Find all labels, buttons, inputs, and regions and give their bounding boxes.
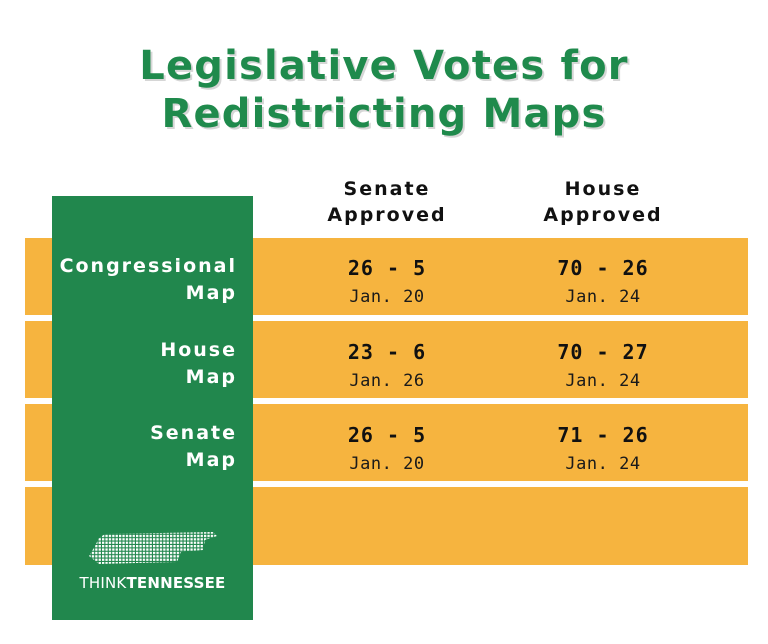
column-header-senate-line-2: Approved bbox=[282, 202, 492, 228]
table-row-label-2-line-1: House bbox=[52, 337, 237, 364]
vote-count-house-2: 70 - 27 bbox=[498, 337, 708, 367]
logo-wordmark: THINKTENNESSEE bbox=[52, 574, 253, 592]
table-row-label-1-line-2: Map bbox=[52, 280, 237, 307]
table-row-label-3-line-2: Map bbox=[52, 447, 237, 474]
title-line-2: Redistricting Maps bbox=[0, 90, 768, 138]
vote-count-house-1: 70 - 26 bbox=[498, 253, 708, 283]
infographic-root: Legislative Votes for Redistricting Maps… bbox=[0, 0, 768, 644]
table-cell-senate-2: 23 - 6 Jan. 26 bbox=[282, 337, 492, 395]
vote-date-house-2: Jan. 24 bbox=[498, 367, 708, 395]
table-row-label-3-line-1: Senate bbox=[52, 420, 237, 447]
vote-count-house-3: 71 - 26 bbox=[498, 420, 708, 450]
logo-word-think: THINK bbox=[80, 574, 127, 592]
page-title: Legislative Votes for Redistricting Maps bbox=[0, 42, 768, 138]
vote-date-senate-1: Jan. 20 bbox=[282, 283, 492, 311]
column-header-house: House Approved bbox=[498, 176, 708, 228]
column-header-senate-line-1: Senate bbox=[282, 176, 492, 202]
vote-count-senate-3: 26 - 5 bbox=[282, 420, 492, 450]
column-header-house-line-2: Approved bbox=[498, 202, 708, 228]
vote-date-house-3: Jan. 24 bbox=[498, 450, 708, 478]
vote-date-senate-2: Jan. 26 bbox=[282, 367, 492, 395]
table-cell-senate-1: 26 - 5 Jan. 20 bbox=[282, 253, 492, 311]
table-cell-senate-3: 26 - 5 Jan. 20 bbox=[282, 420, 492, 478]
table-row-label-3: Senate Map bbox=[52, 420, 237, 474]
tennessee-state-outline-icon bbox=[85, 528, 221, 568]
table-row-label-1-line-1: Congressional bbox=[52, 253, 237, 280]
table-cell-house-2: 70 - 27 Jan. 24 bbox=[498, 337, 708, 395]
column-header-senate: Senate Approved bbox=[282, 176, 492, 228]
vote-date-senate-3: Jan. 20 bbox=[282, 450, 492, 478]
vote-count-senate-2: 23 - 6 bbox=[282, 337, 492, 367]
logo-word-tennessee: TENNESSEE bbox=[126, 574, 225, 592]
table-row-label-1: Congressional Map bbox=[52, 253, 237, 307]
table-row-label-2: House Map bbox=[52, 337, 237, 391]
title-line-1: Legislative Votes for bbox=[0, 42, 768, 90]
logo: THINKTENNESSEE bbox=[52, 528, 253, 592]
column-header-house-line-1: House bbox=[498, 176, 708, 202]
table-cell-house-3: 71 - 26 Jan. 24 bbox=[498, 420, 708, 478]
table-cell-house-1: 70 - 26 Jan. 24 bbox=[498, 253, 708, 311]
vote-count-senate-1: 26 - 5 bbox=[282, 253, 492, 283]
table-row-label-2-line-2: Map bbox=[52, 364, 237, 391]
vote-date-house-1: Jan. 24 bbox=[498, 283, 708, 311]
